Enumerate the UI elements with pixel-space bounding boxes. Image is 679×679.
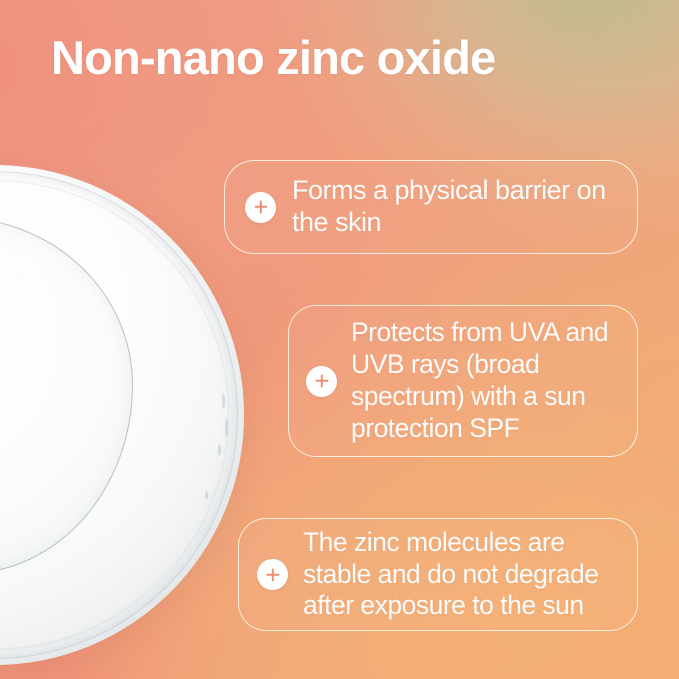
plus-icon — [245, 192, 276, 223]
plus-icon — [306, 366, 337, 397]
product-infographic: Non-nano zinc oxide Forms a physical bar… — [0, 0, 679, 679]
benefit-card-2-text: Protects from UVA and UVB rays (broad sp… — [351, 317, 627, 444]
jar-grip-notch — [205, 491, 208, 500]
jar-grip-notch — [225, 417, 228, 437]
plus-icon — [257, 559, 288, 590]
benefit-card-3: The zinc molecules are stable and do not… — [238, 518, 638, 631]
page-title: Non-nano zinc oxide — [51, 33, 495, 83]
product-jar-image — [0, 165, 244, 665]
benefit-card-3-text: The zinc molecules are stable and do not… — [303, 527, 627, 622]
benefit-card-2: Protects from UVA and UVB rays (broad sp… — [288, 305, 638, 457]
benefit-card-1: Forms a physical barrier on the skin — [224, 160, 638, 254]
jar-grip-notch — [222, 393, 225, 409]
jar-grip-notch — [218, 444, 221, 456]
benefit-card-1-text: Forms a physical barrier on the skin — [292, 175, 627, 239]
